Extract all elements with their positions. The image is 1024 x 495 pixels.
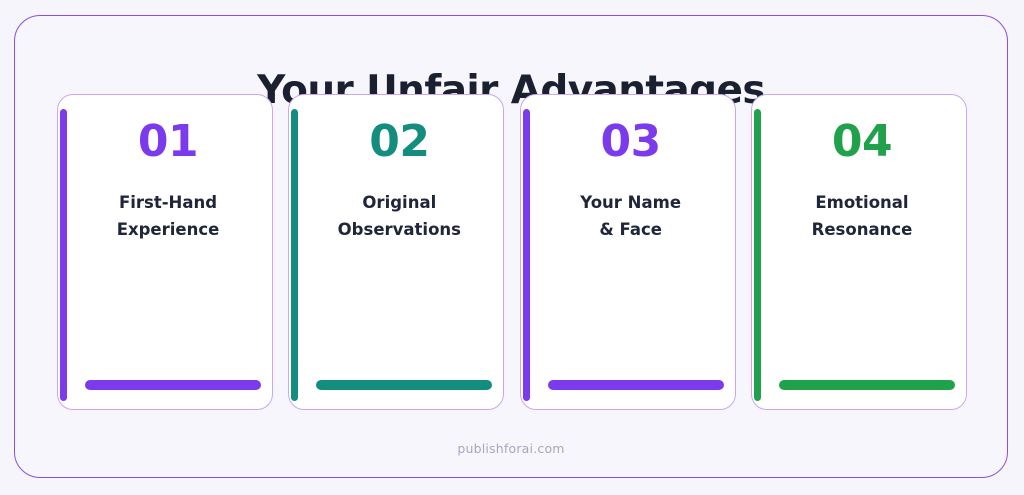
card-progress-bar (316, 380, 492, 390)
card-accent-bar (523, 109, 530, 401)
card-number: 04 (832, 120, 892, 164)
card-body: 02 Original Observations (305, 95, 493, 409)
card-number: 01 (138, 120, 198, 164)
card-accent-bar (291, 109, 298, 401)
card-progress-bar (85, 380, 261, 390)
advantage-card-3[interactable]: 03 Your Name & Face (520, 94, 736, 410)
card-label: Your Name & Face (580, 189, 681, 243)
advantage-card-list: 01 First-Hand Experience 02 Original Obs… (57, 94, 967, 410)
card-accent-bar (60, 109, 67, 401)
card-label: Original Observations (338, 189, 461, 243)
slide-canvas: Your Unfair Advantages 01 First-Hand Exp… (0, 0, 1024, 495)
card-progress-bar (548, 380, 724, 390)
advantage-card-1[interactable]: 01 First-Hand Experience (57, 94, 273, 410)
card-number: 02 (369, 120, 429, 164)
card-label: First-Hand Experience (117, 189, 220, 243)
card-body: 04 Emotional Resonance (768, 95, 956, 409)
card-number: 03 (601, 120, 661, 164)
advantage-card-4[interactable]: 04 Emotional Resonance (751, 94, 967, 410)
card-label: Emotional Resonance (812, 189, 913, 243)
advantage-card-2[interactable]: 02 Original Observations (288, 94, 504, 410)
footer-attribution: publishforai.com (15, 441, 1007, 456)
card-progress-bar (779, 380, 955, 390)
card-accent-bar (754, 109, 761, 401)
slide-frame: Your Unfair Advantages 01 First-Hand Exp… (14, 15, 1008, 478)
card-body: 03 Your Name & Face (537, 95, 725, 409)
card-body: 01 First-Hand Experience (74, 95, 262, 409)
